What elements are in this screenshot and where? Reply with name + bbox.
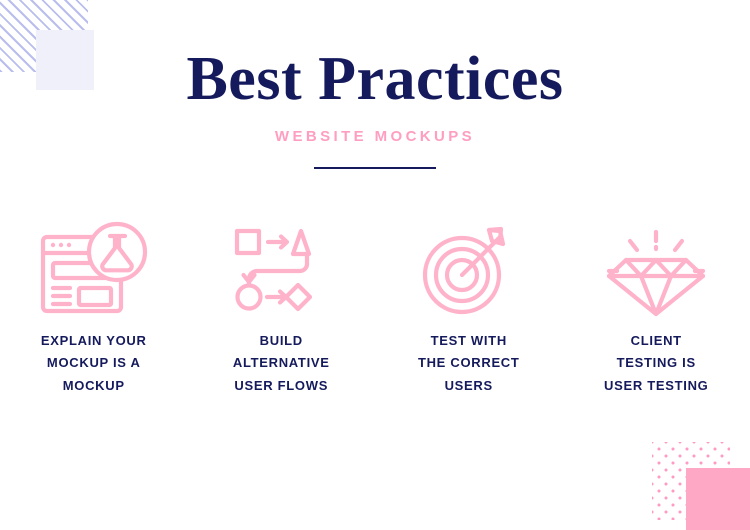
icon-container [419, 212, 519, 324]
browser-flask-icon [39, 220, 149, 316]
header: Best Practices WEBSITE MOCKUPS [0, 48, 750, 169]
list-item-label: BUILD ALTERNATIVE USER FLOWS [233, 330, 330, 397]
icon-container [603, 212, 709, 324]
list-item-label: EXPLAIN YOUR MOCKUP IS A MOCKUP [41, 330, 147, 397]
icon-container [39, 212, 149, 324]
pink-square-decoration [686, 468, 750, 530]
diamond-sparkle-icon [603, 218, 709, 318]
target-arrow-icon [419, 219, 519, 317]
divider-wrapper [0, 167, 750, 169]
list-item: TEST WITH THE CORRECT USERS [375, 212, 563, 397]
list-item: EXPLAIN YOUR MOCKUP IS A MOCKUP [0, 212, 188, 397]
icon-container [231, 212, 331, 324]
flowchart-icon [231, 223, 331, 313]
page-subtitle: WEBSITE MOCKUPS [0, 128, 750, 145]
list-item: CLIENT TESTING IS USER TESTING [563, 212, 750, 397]
page-title: Best Practices [0, 48, 750, 110]
title-divider [314, 167, 436, 169]
best-practices-list: EXPLAIN YOUR MOCKUP IS A MOCKUP [0, 212, 750, 397]
list-item-label: CLIENT TESTING IS USER TESTING [604, 330, 708, 397]
list-item-label: TEST WITH THE CORRECT USERS [418, 330, 520, 397]
poster-canvas: Best Practices WEBSITE MOCKUPS [0, 0, 750, 530]
list-item: BUILD ALTERNATIVE USER FLOWS [188, 212, 376, 397]
